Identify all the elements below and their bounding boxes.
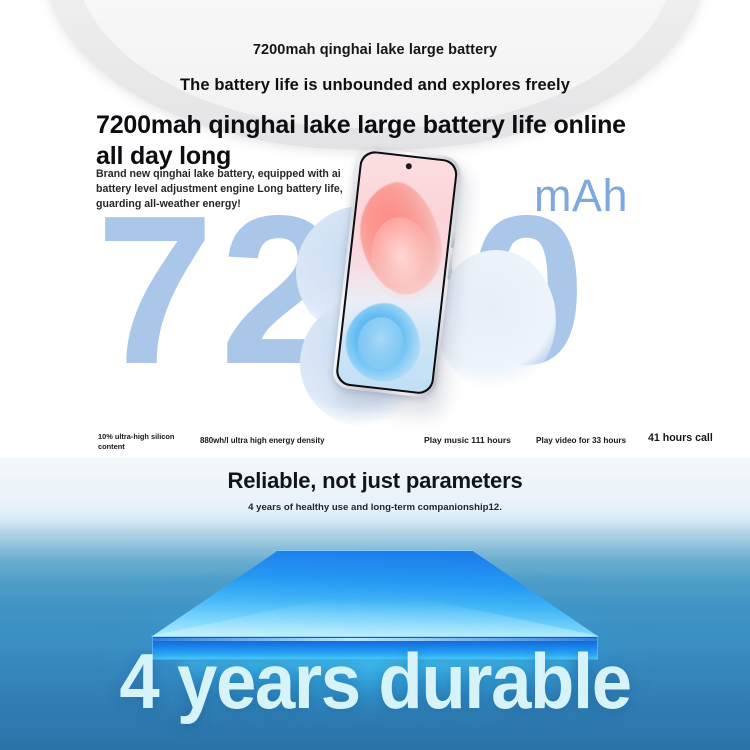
feature-label-call: 41 hours call (648, 432, 713, 444)
section-heading: Reliable, not just parameters (0, 468, 750, 494)
tagline-text: The battery life is unbounded and explor… (0, 76, 750, 95)
durability-headline: 4 years durable (26, 636, 724, 727)
product-promo-page: 7200mah qinghai lake large battery The b… (0, 0, 750, 750)
phone-wallpaper (336, 152, 457, 394)
feature-label-silicon: 10% ultra-high silicon content (98, 432, 184, 451)
eyebrow-text: 7200mah qinghai lake large battery (0, 42, 750, 58)
feature-label-video: Play video for 33 hours (536, 436, 626, 445)
durability-section: Reliable, not just parameters 4 years of… (0, 458, 750, 750)
battery-section: 7200mah qinghai lake large battery The b… (0, 0, 750, 458)
unit-label: mAh (534, 170, 628, 222)
section-caption: 4 years of healthy use and long-term com… (0, 502, 750, 513)
feature-label-music: Play music 111 hours (424, 435, 511, 445)
feature-label-density: 880wh/l ultra high energy density (200, 436, 325, 445)
